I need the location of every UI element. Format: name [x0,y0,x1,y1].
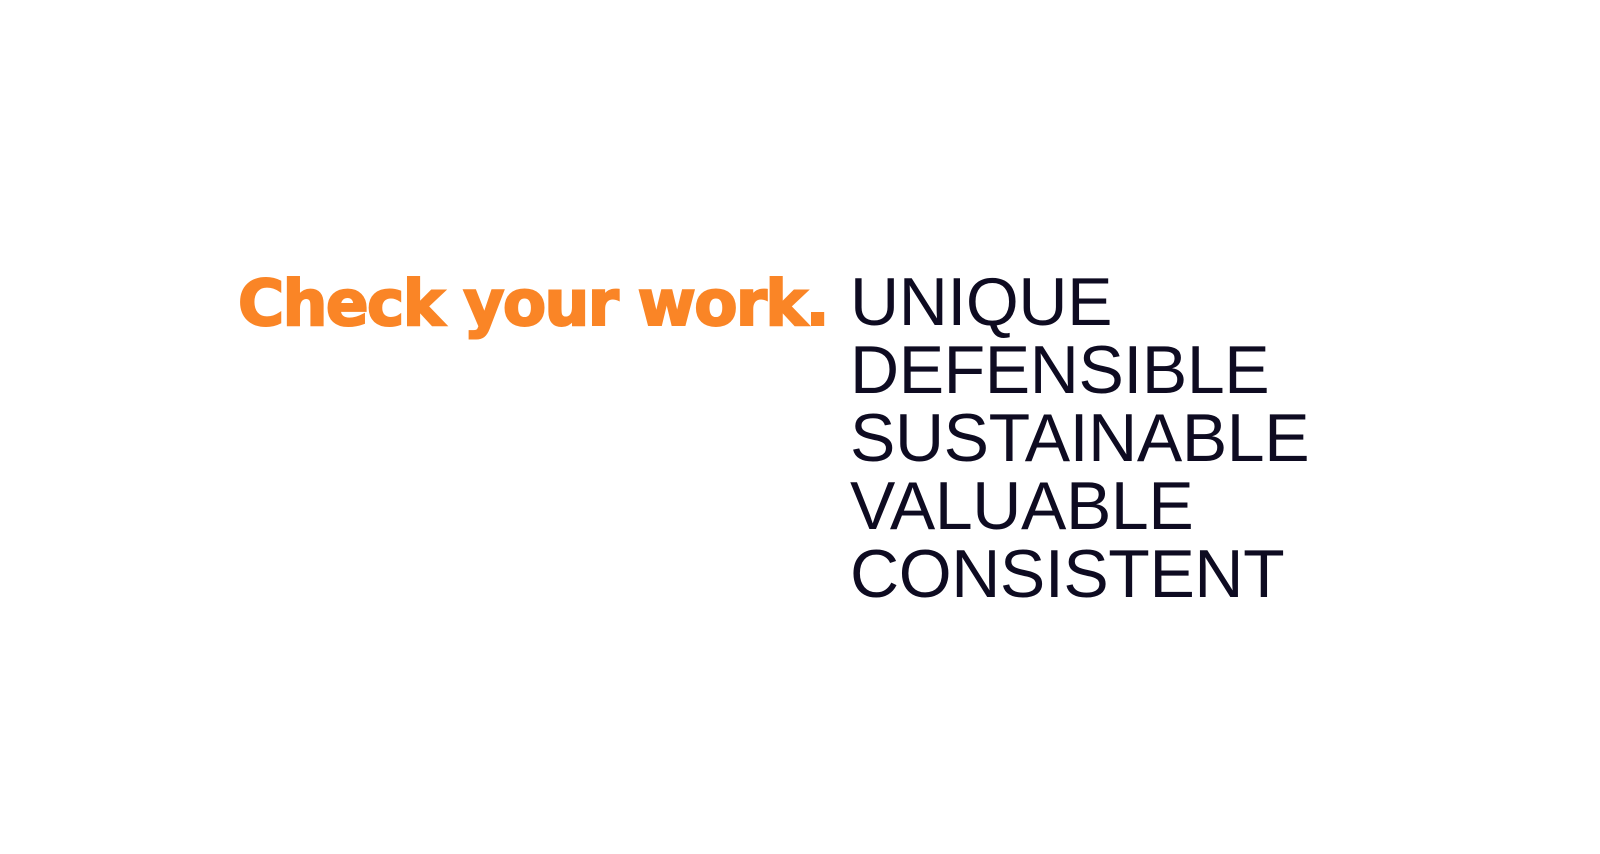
attribute-list-block: UNIQUE DEFENSIBLE SUSTAINABLE VALUABLE C… [850,268,1410,608]
attribute-list: UNIQUE DEFENSIBLE SUSTAINABLE VALUABLE C… [850,268,1410,608]
list-item: UNIQUE [850,268,1410,336]
list-item: DEFENSIBLE [850,336,1410,404]
page-title: Check your work. [238,272,798,336]
headline-block: Check your work. [238,272,798,352]
list-item: SUSTAINABLE [850,404,1410,472]
list-item: CONSISTENT [850,540,1410,608]
slide-canvas: Check your work. UNIQUE DEFENSIBLE SUSTA… [0,0,1600,854]
list-item: VALUABLE [850,472,1410,540]
